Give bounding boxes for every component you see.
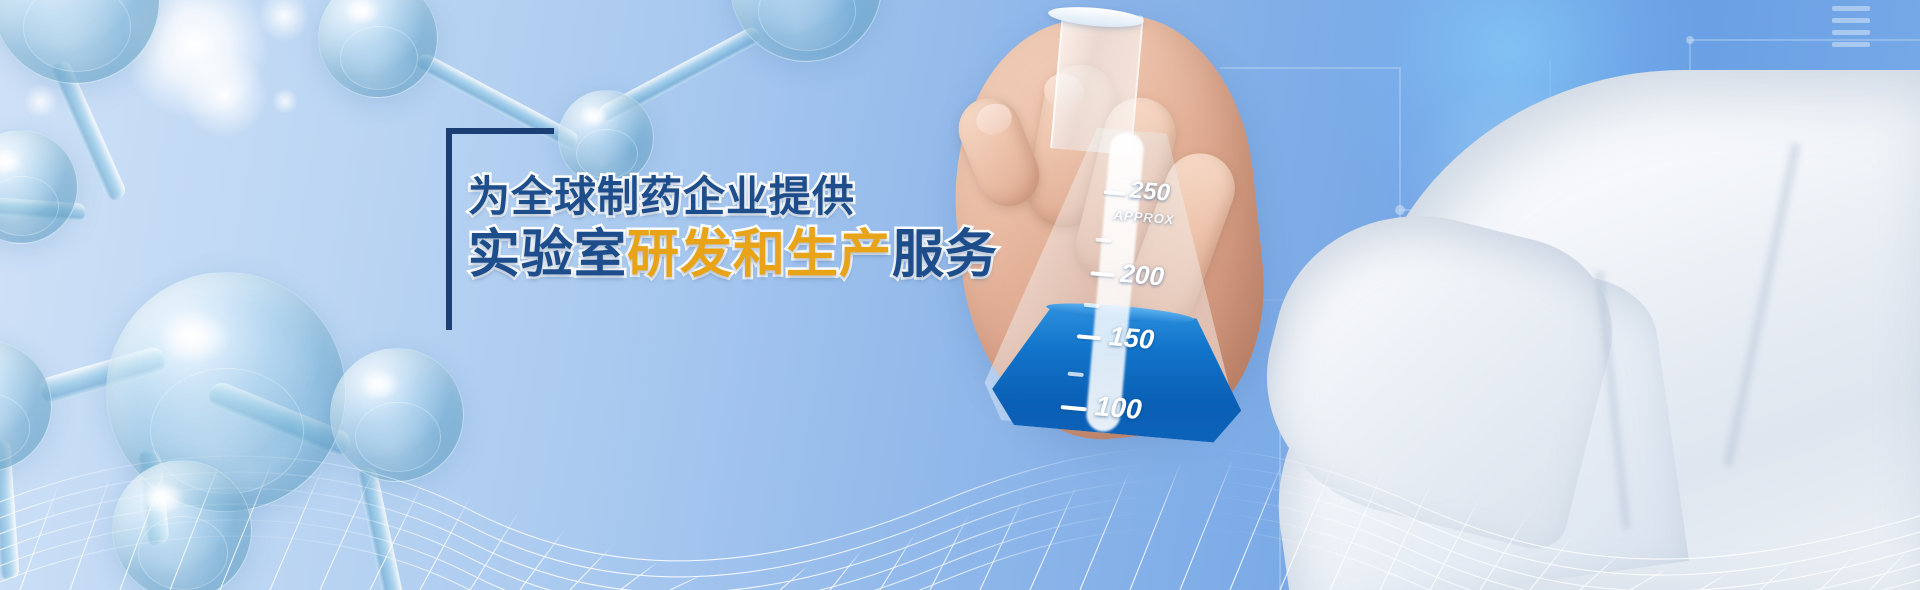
scale-label-200: 200	[1119, 258, 1165, 293]
scale-label-250: 250	[1129, 176, 1171, 207]
headline-block: 为全球制药企业提供 实验室研发和生产服务	[446, 128, 966, 340]
molecule-bond	[0, 196, 86, 222]
scale-label-approx: APPROX	[1113, 207, 1175, 227]
scale-label-150: 150	[1108, 321, 1156, 356]
headline-line-2: 实验室研发和生产服务	[468, 224, 968, 286]
glow-bokeh-tiny-right	[272, 88, 298, 114]
molecule-atom	[318, 0, 438, 98]
glow-bokeh-large	[120, 0, 270, 120]
molecule-atom	[0, 0, 160, 84]
molecule-bond	[49, 58, 128, 203]
hero-banner: 250 APPROX 200 150 100	[0, 0, 1920, 590]
molecule-atom	[730, 0, 882, 62]
glow-bokeh-tiny-left	[24, 84, 58, 118]
wave-mesh-graphic	[0, 360, 1920, 590]
headline-text: 为全球制药企业提供 实验室研发和生产服务	[468, 172, 968, 286]
molecule-bond	[596, 25, 763, 125]
molecule-atom	[0, 130, 78, 244]
headline-line-1: 为全球制药企业提供	[468, 172, 968, 222]
headline-line-2-part-2: 研发和生产	[627, 225, 892, 285]
bracket-frame-top-edge	[446, 128, 554, 134]
glow-bokeh-medium	[180, 50, 270, 140]
headline-line-2-part-1: 实验室	[468, 225, 627, 285]
glow-bokeh-small	[258, 0, 310, 42]
headline-line-2-part-3: 服务	[892, 225, 998, 285]
